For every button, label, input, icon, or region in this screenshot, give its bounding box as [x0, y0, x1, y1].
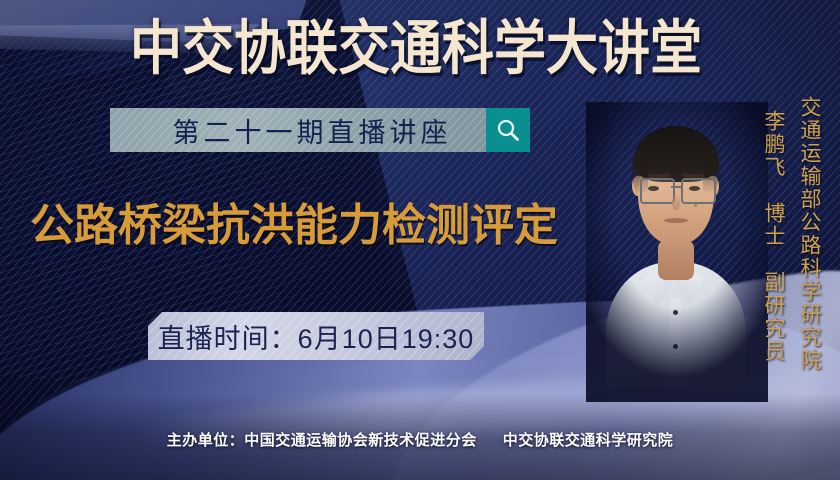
search-icon-tile[interactable]	[486, 108, 530, 152]
speaker-portrait	[602, 112, 748, 384]
footer-host-label: 主办单位：中国交通运输协会新技术促进分会	[167, 432, 477, 449]
episode-bar-body: 第二十一期直播讲座	[110, 108, 486, 152]
speaker-organization: 交通运输部公路科学研究院	[794, 96, 824, 372]
lecture-topic-title: 公路桥梁抗洪能力检测评定	[30, 204, 558, 248]
speaker-nose	[672, 194, 680, 210]
episode-label: 第二十一期直播讲座	[145, 111, 452, 150]
speaker-name-title: 李鹏飞 博士 副研究员	[758, 110, 788, 363]
speaker-neck	[658, 240, 694, 280]
speaker-shirt-button	[673, 344, 678, 349]
footer-coorganizer-label: 中交协联交通科学研究院	[503, 432, 674, 449]
speaker-glasses-bridge	[671, 186, 681, 188]
speaker-glasses-lens-left	[640, 178, 675, 204]
live-time-text: 直播时间：6月10日19:30	[158, 317, 475, 356]
speaker-mouth	[664, 218, 688, 223]
page-title: 中交协联交通科学大讲堂	[130, 14, 710, 85]
episode-bar: 第二十一期直播讲座	[110, 108, 530, 152]
search-icon	[495, 117, 521, 143]
poster-root: 中交协联交通科学大讲堂 第二十一期直播讲座 公路桥梁抗洪能力检测评定 直播时间：…	[0, 0, 840, 480]
live-time-pill: 直播时间：6月10日19:30	[148, 312, 484, 360]
speaker-shirt-button	[673, 310, 678, 315]
speaker-glasses-lens-right	[681, 178, 716, 204]
footer-organizers: 主办单位：中国交通运输协会新技术促进分会中交协联交通科学研究院	[0, 429, 840, 450]
speaker-cheek-mark	[694, 204, 697, 207]
